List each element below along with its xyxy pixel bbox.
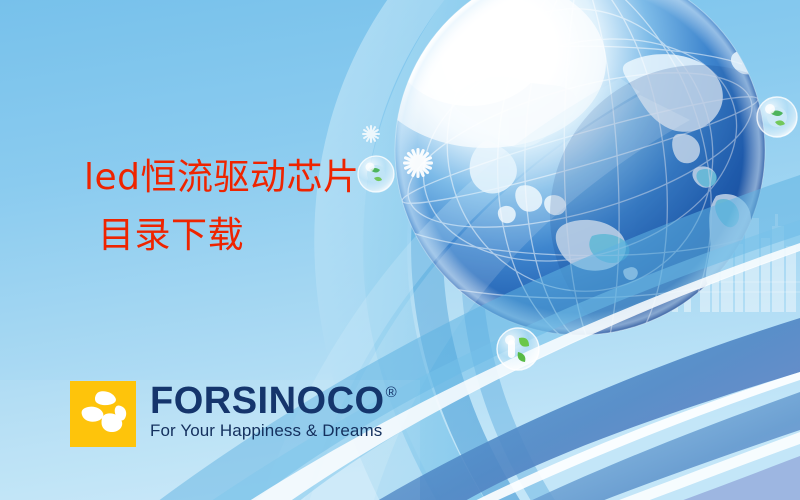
- promo-banner: led恒流驱动芯片 目录下载 FORSINOCO ®: [0, 0, 800, 500]
- registered-trademark-icon: ®: [386, 385, 398, 400]
- brand-tagline: For Your Happiness & Dreams: [150, 422, 397, 441]
- brand-wordmark: FORSINOCO ®: [150, 383, 397, 420]
- headline-line-2: 目录下载: [84, 218, 444, 254]
- brand-name: FORSINOCO: [150, 383, 385, 420]
- bubble-globe-right: [757, 97, 797, 137]
- logo-text-lockup: FORSINOCO ® For Your Happiness & Dreams: [150, 381, 397, 441]
- bubble-leaf-bottom: [497, 328, 539, 370]
- four-petal-pinwheel-icon: [70, 381, 136, 447]
- brand-logo: FORSINOCO ® For Your Happiness & Dreams: [70, 381, 397, 447]
- headline-line-1: led恒流驱动芯片: [84, 160, 444, 196]
- headline: led恒流驱动芯片 目录下载: [84, 160, 444, 254]
